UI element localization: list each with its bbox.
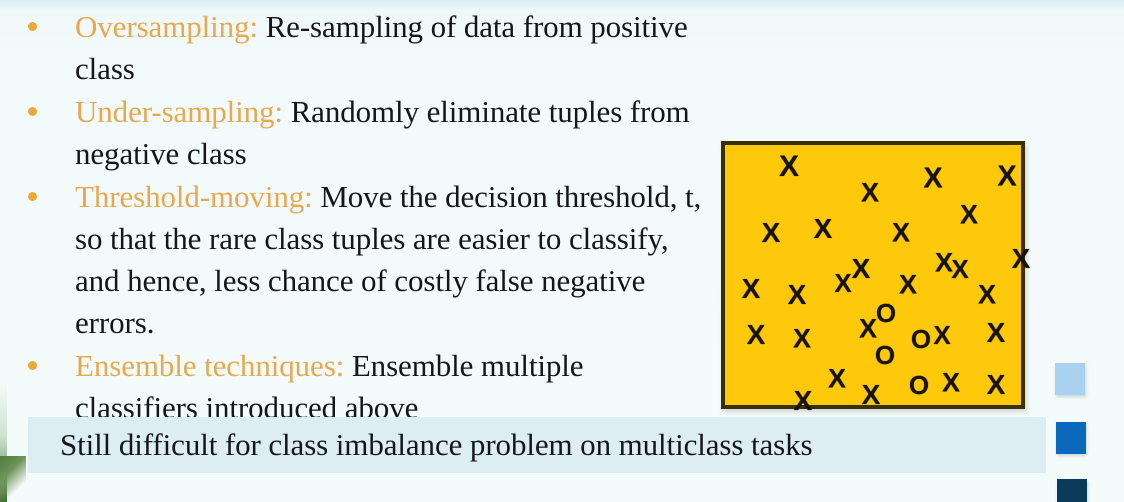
scatter-marker-x: X xyxy=(862,381,881,409)
scatter-marker-x: X xyxy=(742,275,761,303)
green-corner-artifact xyxy=(0,456,26,502)
scatter-marker-x: X xyxy=(814,215,833,243)
dark-navy-square-decoration xyxy=(1057,479,1087,502)
scatter-marker-o: O xyxy=(876,300,896,326)
scatter-marker-o: O xyxy=(911,326,931,352)
scatter-marker-x: X xyxy=(788,281,807,309)
summary-banner: Still difficult for class imbalance prob… xyxy=(28,417,1046,473)
scatter-marker-x: X xyxy=(859,316,877,343)
bullet-text-threshold-moving: Threshold-moving: Move the decision thre… xyxy=(37,176,720,344)
bullet-text-oversampling: Oversampling: Re-sampling of data from p… xyxy=(37,6,720,90)
class-imbalance-scatter-plot: XXXXXXXXXXXXXXXXXXXXXXXXXXXOOOO xyxy=(721,141,1025,409)
slide-canvas: Oversampling: Re-sampling of data from p… xyxy=(0,0,1124,502)
scatter-marker-x: X xyxy=(793,326,811,353)
scatter-marker-o: O xyxy=(875,342,895,368)
scatter-marker-x: X xyxy=(923,165,942,194)
bullet-list: Oversampling: Re-sampling of data from p… xyxy=(0,0,720,429)
bullet-term-oversampling: Oversampling: xyxy=(75,9,258,44)
scatter-marker-x: X xyxy=(794,387,813,415)
scatter-marker-x: X xyxy=(861,180,879,207)
scatter-marker-x: X xyxy=(987,371,1006,399)
scatter-marker-o: O xyxy=(909,372,929,398)
bullet-text-under-sampling: Under-sampling: Randomly eliminate tuple… xyxy=(37,91,720,175)
scatter-marker-x: X xyxy=(852,255,871,283)
scatter-marker-x: X xyxy=(1012,245,1031,273)
bullet-dot-icon xyxy=(28,361,37,370)
scatter-marker-x: X xyxy=(935,250,953,277)
light-blue-square-decoration xyxy=(1055,363,1085,395)
scatter-marker-x: X xyxy=(978,282,996,309)
scatter-marker-x: X xyxy=(779,152,799,182)
summary-banner-text: Still difficult for class imbalance prob… xyxy=(28,427,813,463)
bullet-term-threshold-moving: Threshold-moving: xyxy=(75,179,313,214)
scatter-marker-x: X xyxy=(762,219,781,247)
scatter-marker-x: X xyxy=(834,270,851,296)
scatter-marker-x: X xyxy=(960,202,978,229)
scatter-marker-x: X xyxy=(747,321,766,349)
scatter-marker-x: X xyxy=(828,366,846,393)
bullet-term-ensemble-techniques: Ensemble techniques: xyxy=(75,348,344,383)
bullet-item-threshold-moving: Threshold-moving: Move the decision thre… xyxy=(0,176,720,344)
scatter-marker-x: X xyxy=(892,220,910,247)
bullet-term-under-sampling: Under-sampling: xyxy=(75,94,283,129)
bullet-item-oversampling: Oversampling: Re-sampling of data from p… xyxy=(0,6,720,90)
scatter-marker-x: X xyxy=(997,163,1016,192)
medium-blue-square-decoration xyxy=(1056,422,1086,454)
bullet-dot-icon xyxy=(28,107,37,116)
scatter-marker-x: X xyxy=(951,256,968,282)
bullet-dot-icon xyxy=(28,192,37,201)
bullet-item-under-sampling: Under-sampling: Randomly eliminate tuple… xyxy=(0,91,720,175)
scatter-marker-x: X xyxy=(942,370,960,397)
scatter-marker-x: X xyxy=(933,322,950,348)
scatter-marker-x: X xyxy=(899,272,917,299)
bullet-dot-icon xyxy=(28,22,37,31)
scatter-marker-x: X xyxy=(987,319,1006,347)
